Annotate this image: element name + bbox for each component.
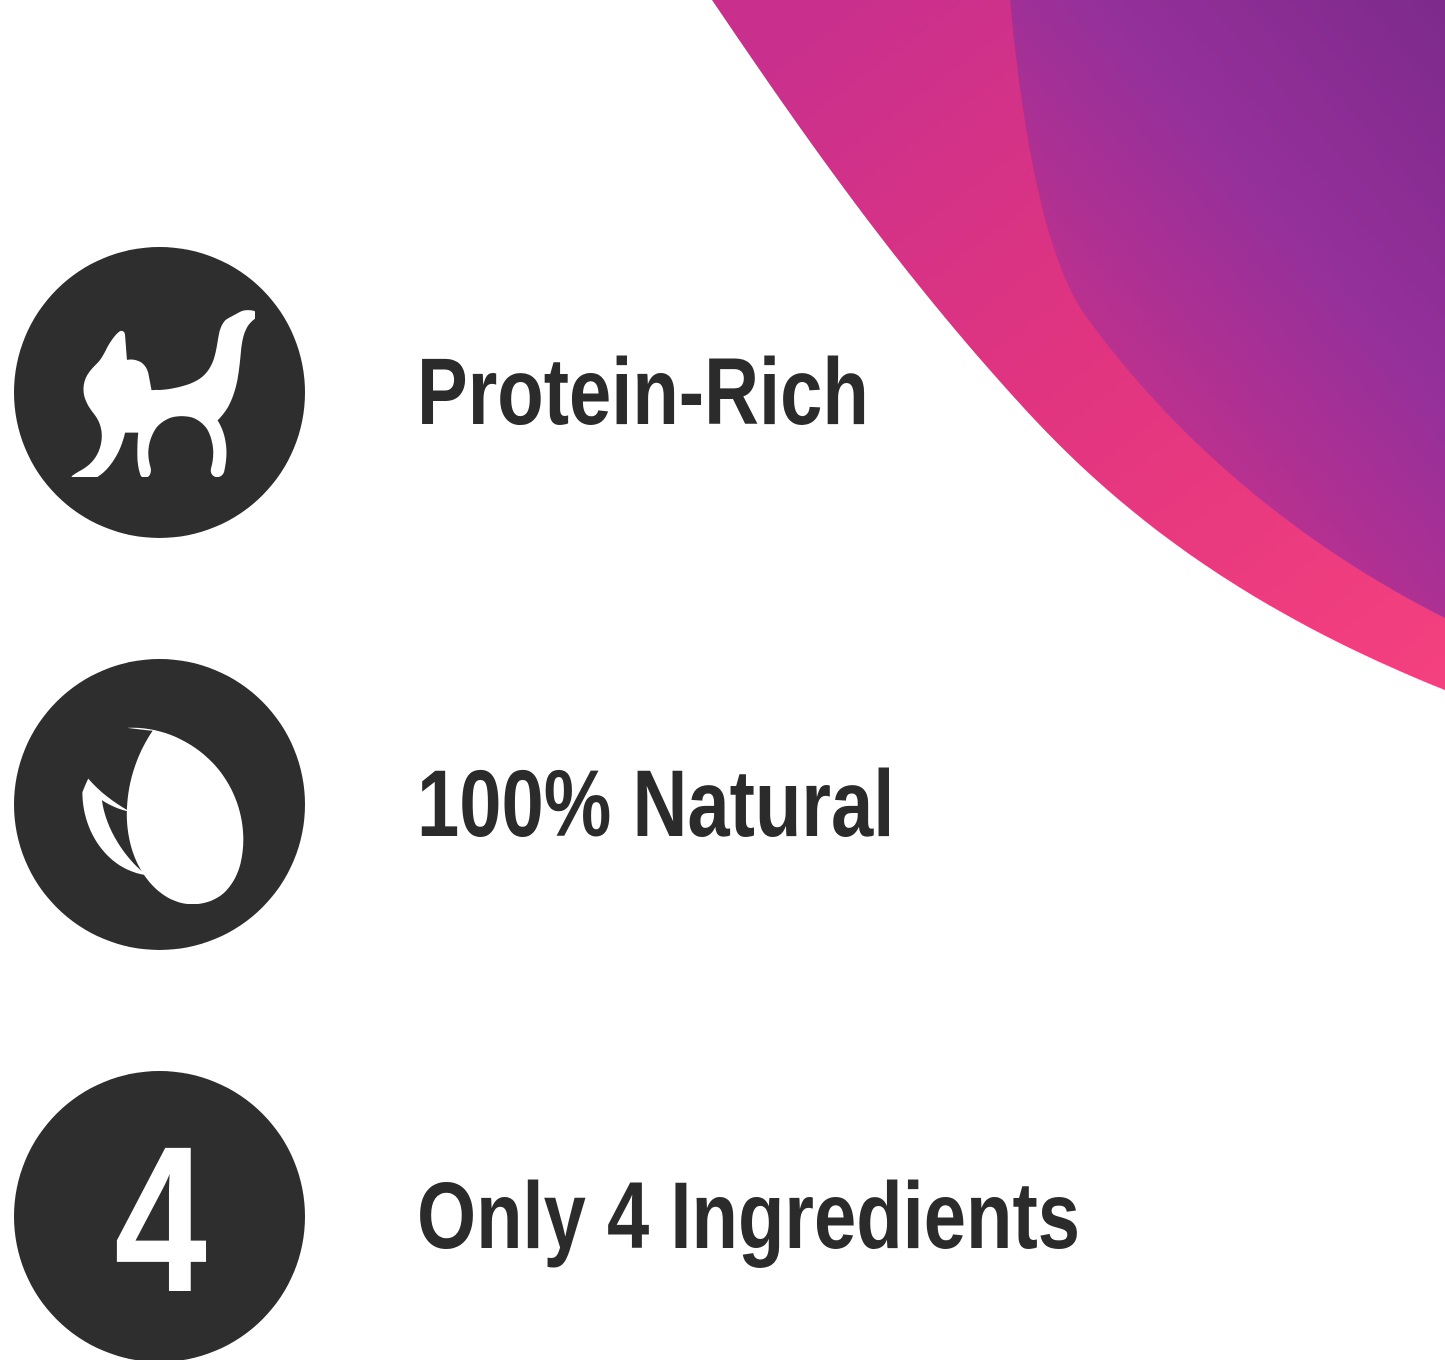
cat-icon xyxy=(65,307,255,477)
leaf-icon xyxy=(57,704,262,904)
feature-callout-panel: Protein-Rich 100% Natural 4 Only 4 Ingre… xyxy=(0,0,1445,1360)
feature-item-ingredients: 4 Only 4 Ingredients xyxy=(0,1070,1200,1360)
number-badge-icon: 4 xyxy=(114,1116,205,1324)
badge-circle xyxy=(14,247,305,538)
feature-label: Only 4 Ingredients xyxy=(417,1169,1080,1264)
feature-label: Protein-Rich xyxy=(417,345,869,440)
badge-circle xyxy=(14,659,305,950)
feature-label: 100% Natural xyxy=(417,757,894,852)
feature-item-protein-rich: Protein-Rich xyxy=(0,246,1200,538)
badge-circle: 4 xyxy=(14,1071,305,1360)
feature-item-natural: 100% Natural xyxy=(0,658,1200,950)
